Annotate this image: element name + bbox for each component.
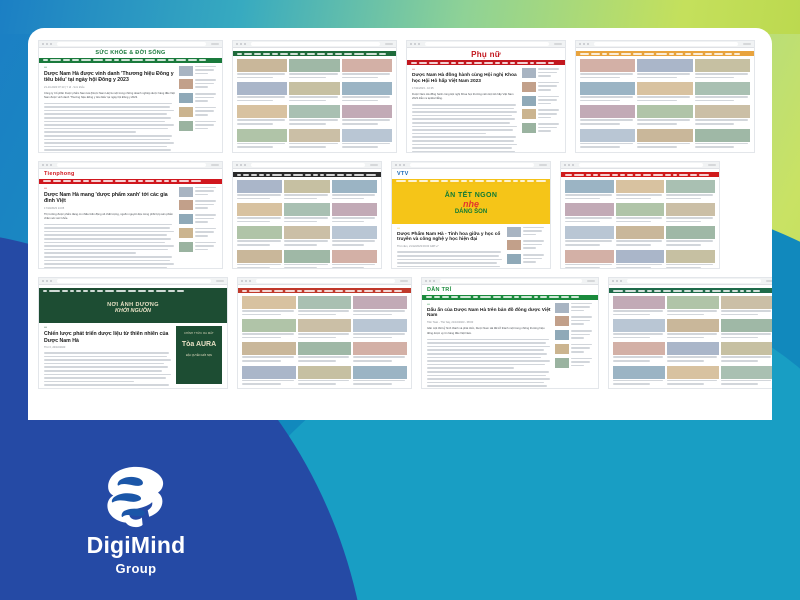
row-1: SỨC KHỎE & ĐỜI SỐNG•••Dược Nam Hà được v… bbox=[38, 40, 762, 153]
grid-card[interactable] bbox=[695, 59, 750, 80]
grid-card[interactable] bbox=[580, 129, 635, 150]
grid-card[interactable] bbox=[332, 180, 377, 201]
grid-card[interactable] bbox=[237, 203, 282, 224]
card-thumbnail bbox=[237, 105, 287, 118]
card-thumbnail bbox=[289, 129, 339, 142]
grid-card[interactable] bbox=[298, 342, 352, 363]
card-thumbnail bbox=[242, 342, 296, 355]
related-item[interactable] bbox=[522, 109, 560, 120]
related-thumbnail bbox=[179, 93, 193, 103]
card-thumbnail bbox=[298, 319, 352, 332]
card-thumbnail bbox=[667, 319, 719, 332]
card-thumbnail bbox=[637, 59, 692, 72]
grid-card[interactable] bbox=[332, 250, 377, 268]
related-thumbnail bbox=[507, 227, 521, 237]
promo-banner[interactable]: NƠI ÁNH DƯƠNGKHỞI NGUỒN bbox=[39, 293, 227, 323]
related-item[interactable] bbox=[179, 121, 217, 132]
grid-card[interactable] bbox=[289, 82, 339, 103]
related-thumbnail bbox=[179, 242, 193, 252]
card-thumbnail bbox=[580, 82, 635, 95]
card-thumbnail bbox=[721, 342, 772, 355]
clipping-batdongsan-green[interactable]: NƠI ÁNH DƯƠNGKHỞI NGUỒN•••Chiến lược phá… bbox=[38, 277, 228, 389]
clipping-vtv-tet[interactable]: VTVĂN TẾT NGONnhẹDÁNG SON•••Dược Phẩm Na… bbox=[391, 161, 551, 269]
ad-line-2: Tòa AURA bbox=[179, 341, 219, 348]
site-masthead: DÂN TRÍ bbox=[427, 288, 451, 294]
thumbnail-grid[interactable] bbox=[609, 293, 772, 388]
grid-card[interactable] bbox=[667, 342, 719, 363]
article-sidebar[interactable] bbox=[179, 66, 217, 153]
grid-card[interactable] bbox=[237, 226, 282, 247]
grid-card[interactable] bbox=[289, 59, 339, 80]
card-thumbnail bbox=[637, 82, 692, 95]
thumbnail-grid[interactable] bbox=[576, 56, 754, 152]
related-item[interactable] bbox=[555, 330, 593, 341]
article-headline: Dấu ấn của Dược Nam Hà trên bản đồ đông … bbox=[427, 308, 551, 320]
grid-card[interactable] bbox=[667, 296, 719, 317]
related-item[interactable] bbox=[179, 242, 217, 253]
banner-line-2: KHỞI NGUỒN bbox=[115, 308, 151, 314]
card-thumbnail bbox=[721, 296, 772, 309]
grid-card[interactable] bbox=[616, 250, 665, 268]
article-byline: Tiến Toàn - Thứ bảy, 21/10/2023 - 08:00 bbox=[427, 321, 551, 324]
card-thumbnail bbox=[613, 296, 665, 309]
related-item[interactable] bbox=[522, 82, 560, 93]
grid-card[interactable] bbox=[289, 129, 339, 150]
thumbnail-grid[interactable] bbox=[233, 56, 396, 152]
related-item[interactable] bbox=[179, 93, 217, 104]
article-headline: Chiến lược phát triển dược liệu từ thiên… bbox=[44, 331, 172, 344]
article-byline: Thứ năm, 21/12/2023 09:00 GMT+7 bbox=[397, 245, 503, 248]
grid-card[interactable] bbox=[298, 296, 352, 317]
card-thumbnail bbox=[342, 82, 392, 95]
related-thumbnail bbox=[179, 200, 193, 210]
article-sidebar[interactable] bbox=[522, 68, 560, 152]
row-2: Tienphong•••Dược Nam Hà mang 'dược phẩm … bbox=[38, 161, 762, 269]
card-thumbnail bbox=[237, 203, 282, 216]
grid-card[interactable] bbox=[565, 203, 614, 224]
grid-card[interactable] bbox=[342, 129, 392, 150]
grid-card[interactable] bbox=[342, 59, 392, 80]
article-sidebar[interactable] bbox=[555, 303, 593, 389]
card-thumbnail bbox=[237, 82, 287, 95]
grid-card[interactable] bbox=[342, 82, 392, 103]
grid-card[interactable] bbox=[284, 180, 329, 201]
related-thumbnail bbox=[179, 107, 193, 117]
grid-card[interactable] bbox=[237, 82, 287, 103]
card-thumbnail bbox=[342, 59, 392, 72]
article-headline: Dược Nam Hà đồng hành cùng Hội nghị Khoa… bbox=[412, 73, 518, 85]
card-thumbnail bbox=[353, 366, 407, 379]
breadcrumb: ••• bbox=[412, 68, 518, 71]
grid-card[interactable] bbox=[237, 180, 282, 201]
grid-card[interactable] bbox=[332, 203, 377, 224]
grid-card[interactable] bbox=[616, 226, 665, 247]
related-thumbnail bbox=[179, 214, 193, 224]
grid-card[interactable] bbox=[666, 180, 715, 201]
article-headline: Dược Nam Hà mang 'dược phẩm xanh' tới cá… bbox=[44, 192, 175, 205]
card-thumbnail bbox=[565, 180, 614, 193]
related-thumbnail bbox=[522, 82, 536, 92]
article-byline: 17/10/2023 14:05 bbox=[44, 207, 175, 210]
card-thumbnail bbox=[237, 59, 287, 72]
grid-card[interactable] bbox=[580, 105, 635, 126]
card-thumbnail bbox=[721, 366, 772, 379]
clipping-tienphong[interactable]: Tienphong•••Dược Nam Hà mang 'dược phẩm … bbox=[38, 161, 223, 269]
article-byline: 21-10-2023 07:13 | Y tế - Sức khỏe bbox=[44, 86, 175, 89]
related-item[interactable] bbox=[522, 96, 560, 107]
card-thumbnail bbox=[580, 59, 635, 72]
thumbnail-grid[interactable] bbox=[233, 177, 381, 268]
grid-card[interactable] bbox=[353, 342, 407, 363]
card-thumbnail bbox=[613, 342, 665, 355]
grid-card[interactable] bbox=[284, 203, 329, 224]
grid-card[interactable] bbox=[298, 319, 352, 340]
grid-card[interactable] bbox=[613, 319, 665, 340]
grid-card[interactable] bbox=[613, 342, 665, 363]
article-body bbox=[44, 352, 172, 388]
grid-card[interactable] bbox=[695, 105, 750, 126]
grid-card[interactable] bbox=[242, 296, 296, 317]
related-item[interactable] bbox=[555, 303, 593, 314]
grid-card[interactable] bbox=[332, 226, 377, 247]
related-item[interactable] bbox=[179, 107, 217, 118]
grid-card[interactable] bbox=[666, 203, 715, 224]
article-body bbox=[412, 104, 518, 152]
grid-card[interactable] bbox=[637, 129, 692, 150]
card-thumbnail bbox=[289, 105, 339, 118]
grid-card[interactable] bbox=[721, 319, 772, 340]
related-item[interactable] bbox=[507, 254, 545, 265]
card-thumbnail bbox=[298, 342, 352, 355]
clipping-phunu[interactable]: Phụ nữ•••Dược Nam Hà đồng hành cùng Hội … bbox=[406, 40, 566, 153]
card-thumbnail bbox=[237, 129, 287, 142]
breadcrumb: ••• bbox=[44, 187, 175, 190]
article-sidebar[interactable] bbox=[179, 187, 217, 269]
thumbnail-grid[interactable] bbox=[238, 293, 411, 388]
breadcrumb: ••• bbox=[397, 227, 503, 230]
grid-card[interactable] bbox=[695, 129, 750, 150]
site-masthead: Tienphong bbox=[44, 172, 75, 178]
card-thumbnail bbox=[298, 366, 352, 379]
ad-line-3: ĐẶC QUYỀN GIỚI HẠN bbox=[179, 354, 219, 357]
banner-line-2: nhẹ bbox=[463, 199, 479, 209]
grid-card[interactable] bbox=[613, 296, 665, 317]
article-headline: Dược Nam Hà được vinh danh 'Thương hiệu … bbox=[44, 71, 175, 84]
grid-card[interactable] bbox=[284, 226, 329, 247]
grid-card[interactable] bbox=[637, 59, 692, 80]
clipping-redsite-grid[interactable] bbox=[560, 161, 720, 269]
site-masthead: SỨC KHỎE & ĐỜI SỐNG bbox=[95, 51, 165, 57]
card-thumbnail bbox=[284, 203, 329, 216]
article-byline: 17/11/2023 - 10:25 bbox=[412, 87, 518, 90]
board-inner: SỨC KHỎE & ĐỜI SỐNG•••Dược Nam Hà được v… bbox=[28, 28, 772, 420]
card-thumbnail bbox=[721, 319, 772, 332]
promo-banner[interactable]: ĂN TẾT NGONnhẹDÁNG SON bbox=[392, 184, 550, 224]
grid-card[interactable] bbox=[637, 105, 692, 126]
grid-card[interactable] bbox=[565, 226, 614, 247]
card-thumbnail bbox=[667, 342, 719, 355]
card-thumbnail bbox=[284, 250, 329, 263]
card-thumbnail bbox=[332, 203, 377, 216]
clipping-portal-cards[interactable] bbox=[237, 277, 412, 389]
grid-card[interactable] bbox=[237, 129, 287, 150]
breadcrumb: ••• bbox=[427, 303, 551, 306]
card-thumbnail bbox=[289, 59, 339, 72]
card-thumbnail bbox=[580, 105, 635, 118]
ad-line-1: CHÍNH THỨC RA MẮT bbox=[179, 332, 219, 335]
related-thumbnail bbox=[179, 228, 193, 238]
card-thumbnail bbox=[616, 250, 665, 263]
grid-card[interactable] bbox=[237, 250, 282, 268]
related-thumbnail bbox=[179, 187, 193, 197]
breadcrumb: ••• bbox=[44, 326, 172, 329]
card-thumbnail bbox=[565, 250, 614, 263]
grid-card[interactable] bbox=[666, 250, 715, 268]
clipping-dantri[interactable]: DÂN TRÍ•••Dấu ấn của Dược Nam Hà trên bả… bbox=[421, 277, 599, 389]
grid-card[interactable] bbox=[666, 226, 715, 247]
card-thumbnail bbox=[667, 366, 719, 379]
row-3: NƠI ÁNH DƯƠNGKHỞI NGUỒN•••Chiến lược phá… bbox=[38, 277, 762, 389]
card-thumbnail bbox=[695, 82, 750, 95]
grid-card[interactable] bbox=[353, 319, 407, 340]
grid-card[interactable] bbox=[580, 59, 635, 80]
card-thumbnail bbox=[284, 180, 329, 193]
article-lead: Thị trường được phẩm đang có nhiều biến … bbox=[44, 213, 175, 221]
card-thumbnail bbox=[284, 226, 329, 239]
brand-subtitle: Group bbox=[36, 561, 236, 576]
related-thumbnail bbox=[179, 79, 193, 89]
related-thumbnail bbox=[555, 303, 569, 313]
article-body bbox=[397, 251, 503, 268]
related-item[interactable] bbox=[179, 66, 217, 77]
card-thumbnail bbox=[332, 226, 377, 239]
card-thumbnail bbox=[242, 319, 296, 332]
banner-line-3: DÁNG SON bbox=[455, 209, 487, 215]
article-lead: Gần một thế kỷ hình thành và phát triển,… bbox=[427, 327, 551, 335]
grid-card[interactable] bbox=[721, 366, 772, 387]
card-thumbnail bbox=[298, 296, 352, 309]
clipping-portal-green[interactable] bbox=[232, 40, 397, 153]
related-item[interactable] bbox=[555, 358, 593, 369]
article-lead: Công ty Cổ phần Dược phẩm Nam Hà (Dược N… bbox=[44, 92, 175, 100]
card-thumbnail bbox=[342, 105, 392, 118]
related-thumbnail bbox=[555, 330, 569, 340]
card-thumbnail bbox=[332, 250, 377, 263]
clipping-vnexpress-grid[interactable] bbox=[575, 40, 755, 153]
grid-card[interactable] bbox=[637, 82, 692, 103]
clipping-green-news-portal[interactable] bbox=[608, 277, 772, 389]
brand-logo-block: DigiMind Group bbox=[36, 464, 236, 576]
card-thumbnail bbox=[242, 366, 296, 379]
article-byline: Thứ 6, 20/10/2023 bbox=[44, 346, 172, 349]
grid-card[interactable] bbox=[342, 105, 392, 126]
grid-card[interactable] bbox=[242, 319, 296, 340]
article-body bbox=[44, 103, 175, 151]
card-thumbnail bbox=[695, 129, 750, 142]
article-body bbox=[427, 339, 551, 387]
article-sidebar[interactable] bbox=[507, 227, 545, 269]
related-item[interactable] bbox=[555, 316, 593, 327]
card-thumbnail bbox=[616, 180, 665, 193]
site-masthead: Phụ nữ bbox=[471, 51, 501, 59]
card-thumbnail bbox=[242, 296, 296, 309]
related-thumbnail bbox=[179, 66, 193, 76]
press-clipping-board: SỨC KHỎE & ĐỜI SỐNG•••Dược Nam Hà được v… bbox=[28, 28, 772, 420]
article-body bbox=[44, 224, 175, 268]
card-thumbnail bbox=[695, 59, 750, 72]
card-thumbnail bbox=[342, 129, 392, 142]
grid-card[interactable] bbox=[289, 105, 339, 126]
card-thumbnail bbox=[666, 203, 715, 216]
clipping-news-dark-grid[interactable] bbox=[232, 161, 382, 269]
article-headline: Dược Phẩm Nam Hà - Tinh hoa giữa y học c… bbox=[397, 232, 503, 244]
card-thumbnail bbox=[332, 180, 377, 193]
related-thumbnail bbox=[555, 316, 569, 326]
card-thumbnail bbox=[666, 226, 715, 239]
card-thumbnail bbox=[580, 129, 635, 142]
related-item[interactable] bbox=[522, 68, 560, 79]
site-masthead: VTV bbox=[397, 172, 409, 178]
card-thumbnail bbox=[237, 226, 282, 239]
card-thumbnail bbox=[565, 226, 614, 239]
related-thumbnail bbox=[522, 109, 536, 119]
card-thumbnail bbox=[613, 319, 665, 332]
related-thumbnail bbox=[179, 121, 193, 131]
card-thumbnail bbox=[616, 226, 665, 239]
grid-card[interactable] bbox=[242, 342, 296, 363]
grid-card[interactable] bbox=[353, 296, 407, 317]
card-thumbnail bbox=[237, 250, 282, 263]
card-thumbnail bbox=[666, 250, 715, 263]
related-thumbnail bbox=[522, 68, 536, 78]
breadcrumb: ••• bbox=[44, 66, 175, 69]
grid-card[interactable] bbox=[580, 82, 635, 103]
grid-card[interactable] bbox=[298, 366, 352, 387]
related-item[interactable] bbox=[507, 227, 545, 238]
card-thumbnail bbox=[289, 82, 339, 95]
related-item[interactable] bbox=[179, 79, 217, 90]
card-thumbnail bbox=[666, 180, 715, 193]
card-thumbnail bbox=[695, 105, 750, 118]
grid-card[interactable] bbox=[695, 82, 750, 103]
related-item[interactable] bbox=[507, 240, 545, 251]
card-thumbnail bbox=[237, 180, 282, 193]
card-thumbnail bbox=[613, 366, 665, 379]
related-thumbnail bbox=[555, 344, 569, 354]
related-item[interactable] bbox=[179, 187, 217, 198]
related-thumbnail bbox=[522, 96, 536, 106]
grid-card[interactable] bbox=[721, 296, 772, 317]
grid-card[interactable] bbox=[613, 366, 665, 387]
grid-card[interactable] bbox=[616, 180, 665, 201]
grid-card[interactable] bbox=[565, 180, 614, 201]
article-lead: Dược Nam Hà đồng hành cùng Hội nghị Khoa… bbox=[412, 93, 518, 101]
related-item[interactable] bbox=[555, 344, 593, 355]
related-item[interactable] bbox=[522, 123, 560, 134]
brain-globe-mark bbox=[99, 464, 173, 530]
banner-line-1: ĂN TẾT NGON bbox=[445, 192, 498, 199]
related-thumbnail bbox=[522, 123, 536, 133]
related-item[interactable] bbox=[179, 214, 217, 225]
card-thumbnail bbox=[353, 296, 407, 309]
card-thumbnail bbox=[565, 203, 614, 216]
related-item[interactable] bbox=[179, 200, 217, 211]
card-thumbnail bbox=[667, 296, 719, 309]
thumbnail-grid[interactable] bbox=[561, 177, 719, 268]
grid-card[interactable] bbox=[237, 105, 287, 126]
card-thumbnail bbox=[353, 342, 407, 355]
grid-card[interactable] bbox=[667, 319, 719, 340]
card-thumbnail bbox=[616, 203, 665, 216]
related-item[interactable] bbox=[179, 228, 217, 239]
grid-card[interactable] bbox=[667, 366, 719, 387]
related-thumbnail bbox=[507, 240, 521, 250]
grid-card[interactable] bbox=[353, 366, 407, 387]
grid-card[interactable] bbox=[237, 59, 287, 80]
card-thumbnail bbox=[637, 105, 692, 118]
card-thumbnail bbox=[637, 129, 692, 142]
brand-name: DigiMind bbox=[36, 534, 236, 557]
card-thumbnail bbox=[353, 319, 407, 332]
grid-card[interactable] bbox=[721, 342, 772, 363]
related-thumbnail bbox=[507, 254, 521, 264]
article-sidebar[interactable]: CHÍNH THỨC RA MẮTTòa AURAĐẶC QUYỀN GIỚI … bbox=[176, 326, 222, 388]
grid-card[interactable] bbox=[284, 250, 329, 268]
grid-card[interactable] bbox=[565, 250, 614, 268]
grid-card[interactable] bbox=[242, 366, 296, 387]
clipping-suckhoedoisong[interactable]: SỨC KHỎE & ĐỜI SỐNG•••Dược Nam Hà được v… bbox=[38, 40, 223, 153]
grid-card[interactable] bbox=[616, 203, 665, 224]
related-thumbnail bbox=[555, 358, 569, 368]
